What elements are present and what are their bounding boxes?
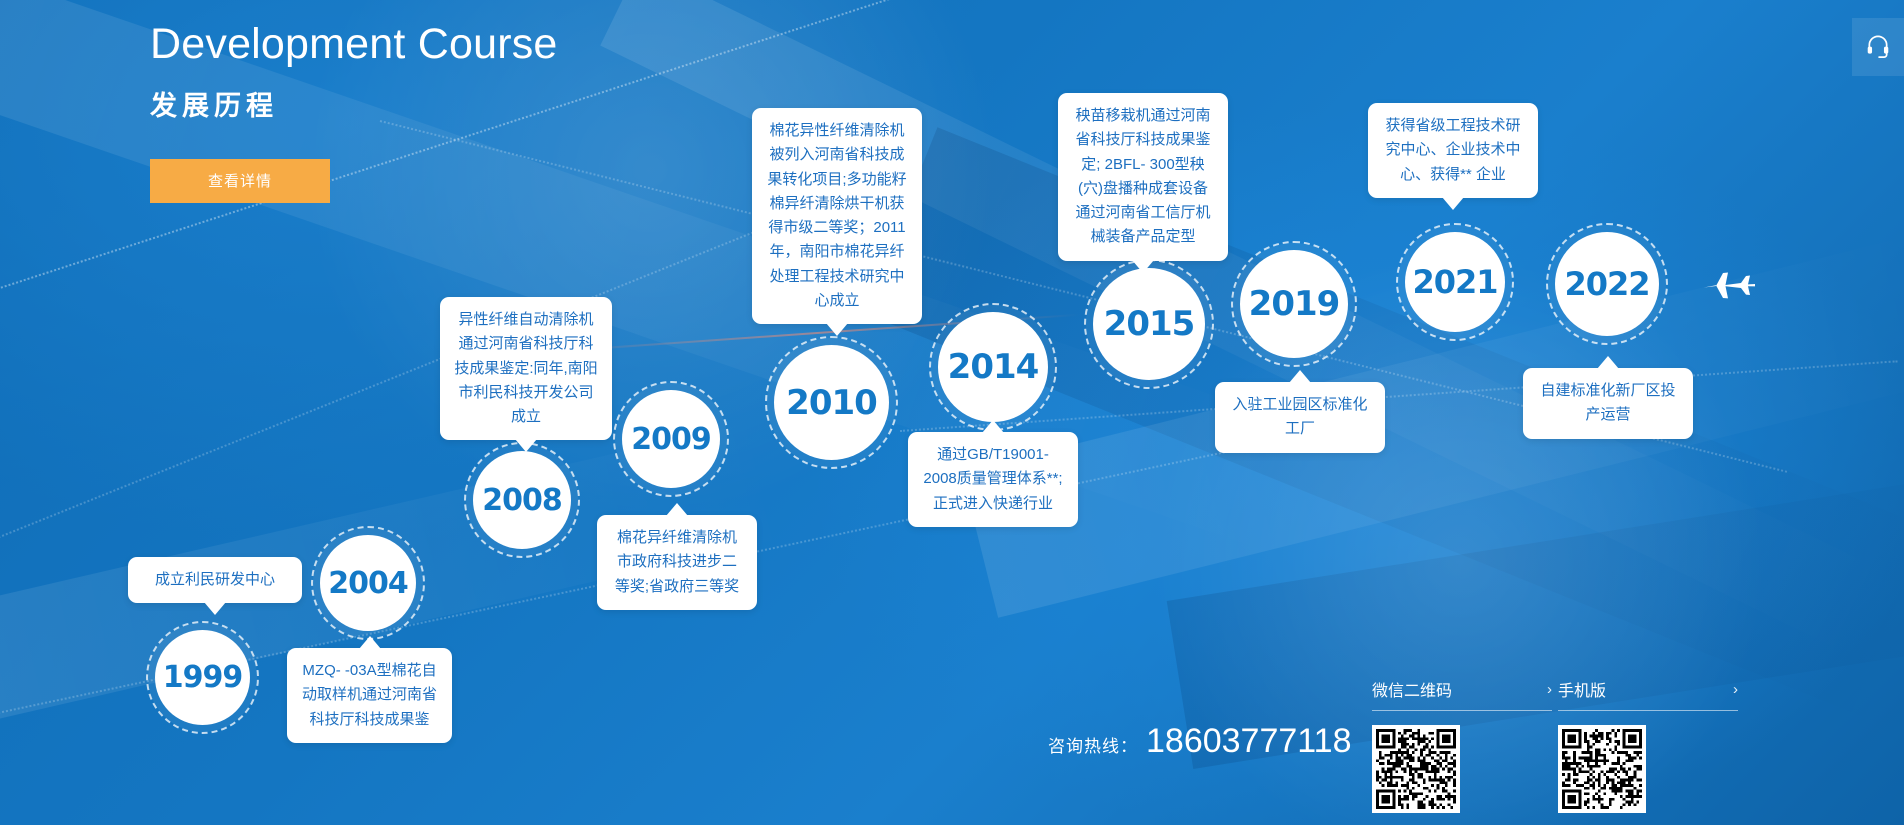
timeline-year-2015[interactable]: 2015	[1093, 268, 1205, 380]
chevron-right-icon: ›	[1733, 681, 1738, 698]
airplane-icon	[1700, 265, 1756, 310]
timeline-year-label: 2008	[482, 483, 562, 518]
card-pointer	[1289, 370, 1311, 383]
hotline: 咨询热线： 18603777118	[1048, 722, 1351, 761]
card-pointer	[359, 636, 381, 649]
timeline-year-label: 2014	[948, 347, 1039, 387]
timeline-card-text: 异性纤维自动清除机通过河南省科技厅科技成果鉴定:同年,南阳市利民科技开发公司成立	[454, 311, 597, 425]
qr-mobile-label: 手机版	[1558, 677, 1606, 701]
qr-code-wechat-image	[1372, 725, 1460, 813]
card-pointer	[1597, 356, 1619, 369]
card-pointer	[1442, 197, 1464, 210]
card-pointer	[826, 323, 848, 336]
timeline-card-2015[interactable]: 秧苗移栽机通过河南省科技厅科技成果鉴定; 2BFL- 300型秧(穴)盘播种成套…	[1058, 93, 1228, 261]
timeline-card-2009[interactable]: 棉花异纤维清除机市政府科技进步二等奖;省政府三等奖	[597, 515, 757, 610]
timeline-card-2008[interactable]: 异性纤维自动清除机通过河南省科技厅科技成果鉴定:同年,南阳市利民科技开发公司成立	[440, 297, 612, 440]
card-pointer	[204, 602, 226, 615]
timeline-year-label: 2019	[1249, 284, 1340, 324]
qr-wechat-label: 微信二维码	[1372, 677, 1452, 701]
timeline-card-text: 通过GB/T19001-2008质量管理体系**;正式进入快递行业	[923, 446, 1062, 512]
timeline-card-text: 成立利民研发中心	[155, 571, 275, 588]
timeline-card-2022[interactable]: 自建标准化新厂区投产运营	[1523, 368, 1693, 439]
timeline-card-2010[interactable]: 棉花异性纤维清除机被列入河南省科技成果转化项目;多功能籽棉异纤清除烘干机获得市级…	[752, 108, 922, 324]
timeline-year-label: 2021	[1412, 263, 1497, 301]
timeline-card-text: 获得省级工程技术研究中心、企业技术中心、获得** 企业	[1385, 117, 1520, 183]
qr-code-mobile-image	[1558, 725, 1646, 813]
card-pointer	[666, 503, 688, 516]
timeline-year-2021[interactable]: 2021	[1405, 232, 1505, 332]
qr-wechat-header[interactable]: 微信二维码 ›	[1372, 677, 1552, 711]
timeline-card-2004[interactable]: MZQ- -03A型棉花自动取样机通过河南省科技厅科技成果鉴	[287, 648, 452, 743]
timeline-card-2021[interactable]: 获得省级工程技术研究中心、企业技术中心、获得** 企业	[1368, 103, 1538, 198]
timeline-year-2019[interactable]: 2019	[1240, 250, 1348, 358]
timeline-year-2008[interactable]: 2008	[473, 451, 571, 549]
timeline-card-text: 棉花异性纤维清除机被列入河南省科技成果转化项目;多功能籽棉异纤清除烘干机获得市级…	[767, 122, 906, 309]
timeline-year-2014[interactable]: 2014	[938, 312, 1048, 422]
timeline-year-1999[interactable]: 1999	[155, 630, 250, 725]
timeline-card-1999[interactable]: 成立利民研发中心	[128, 557, 302, 603]
timeline-year-label: 2022	[1564, 265, 1649, 303]
timeline-card-text: 秧苗移栽机通过河南省科技厅科技成果鉴定; 2BFL- 300型秧(穴)盘播种成套…	[1075, 107, 1210, 245]
timeline-year-label: 2004	[328, 566, 408, 601]
timeline-year-label: 2015	[1104, 304, 1195, 344]
timeline-year-2009[interactable]: 2009	[622, 390, 720, 488]
timeline-card-2014[interactable]: 通过GB/T19001-2008质量管理体系**;正式进入快递行业	[908, 432, 1078, 527]
timeline-year-label: 2010	[786, 383, 877, 423]
timeline-card-text: 入驻工业园区标准化工厂	[1232, 396, 1367, 437]
timeline-card-2019[interactable]: 入驻工业园区标准化工厂	[1215, 382, 1385, 453]
card-pointer	[982, 420, 1004, 433]
timeline-card-text: 自建标准化新厂区投产运营	[1540, 382, 1675, 423]
timeline-year-2022[interactable]: 2022	[1555, 232, 1659, 336]
timeline-year-label: 2009	[631, 422, 711, 457]
timeline-year-2004[interactable]: 2004	[320, 535, 416, 631]
timeline-year-2010[interactable]: 2010	[774, 345, 889, 460]
qr-mobile-header[interactable]: 手机版 ›	[1558, 677, 1738, 711]
hotline-label: 咨询热线：	[1048, 732, 1138, 757]
qr-block-wechat: 微信二维码 ›	[1372, 677, 1552, 813]
chevron-right-icon: ›	[1547, 681, 1552, 698]
timeline-card-text: MZQ- -03A型棉花自动取样机通过河南省科技厅科技成果鉴	[302, 662, 437, 728]
qr-block-mobile: 手机版 ›	[1558, 677, 1738, 813]
timeline-card-text: 棉花异纤维清除机市政府科技进步二等奖;省政府三等奖	[615, 529, 739, 595]
timeline-year-label: 1999	[163, 660, 243, 695]
hotline-number[interactable]: 18603777118	[1146, 722, 1351, 761]
